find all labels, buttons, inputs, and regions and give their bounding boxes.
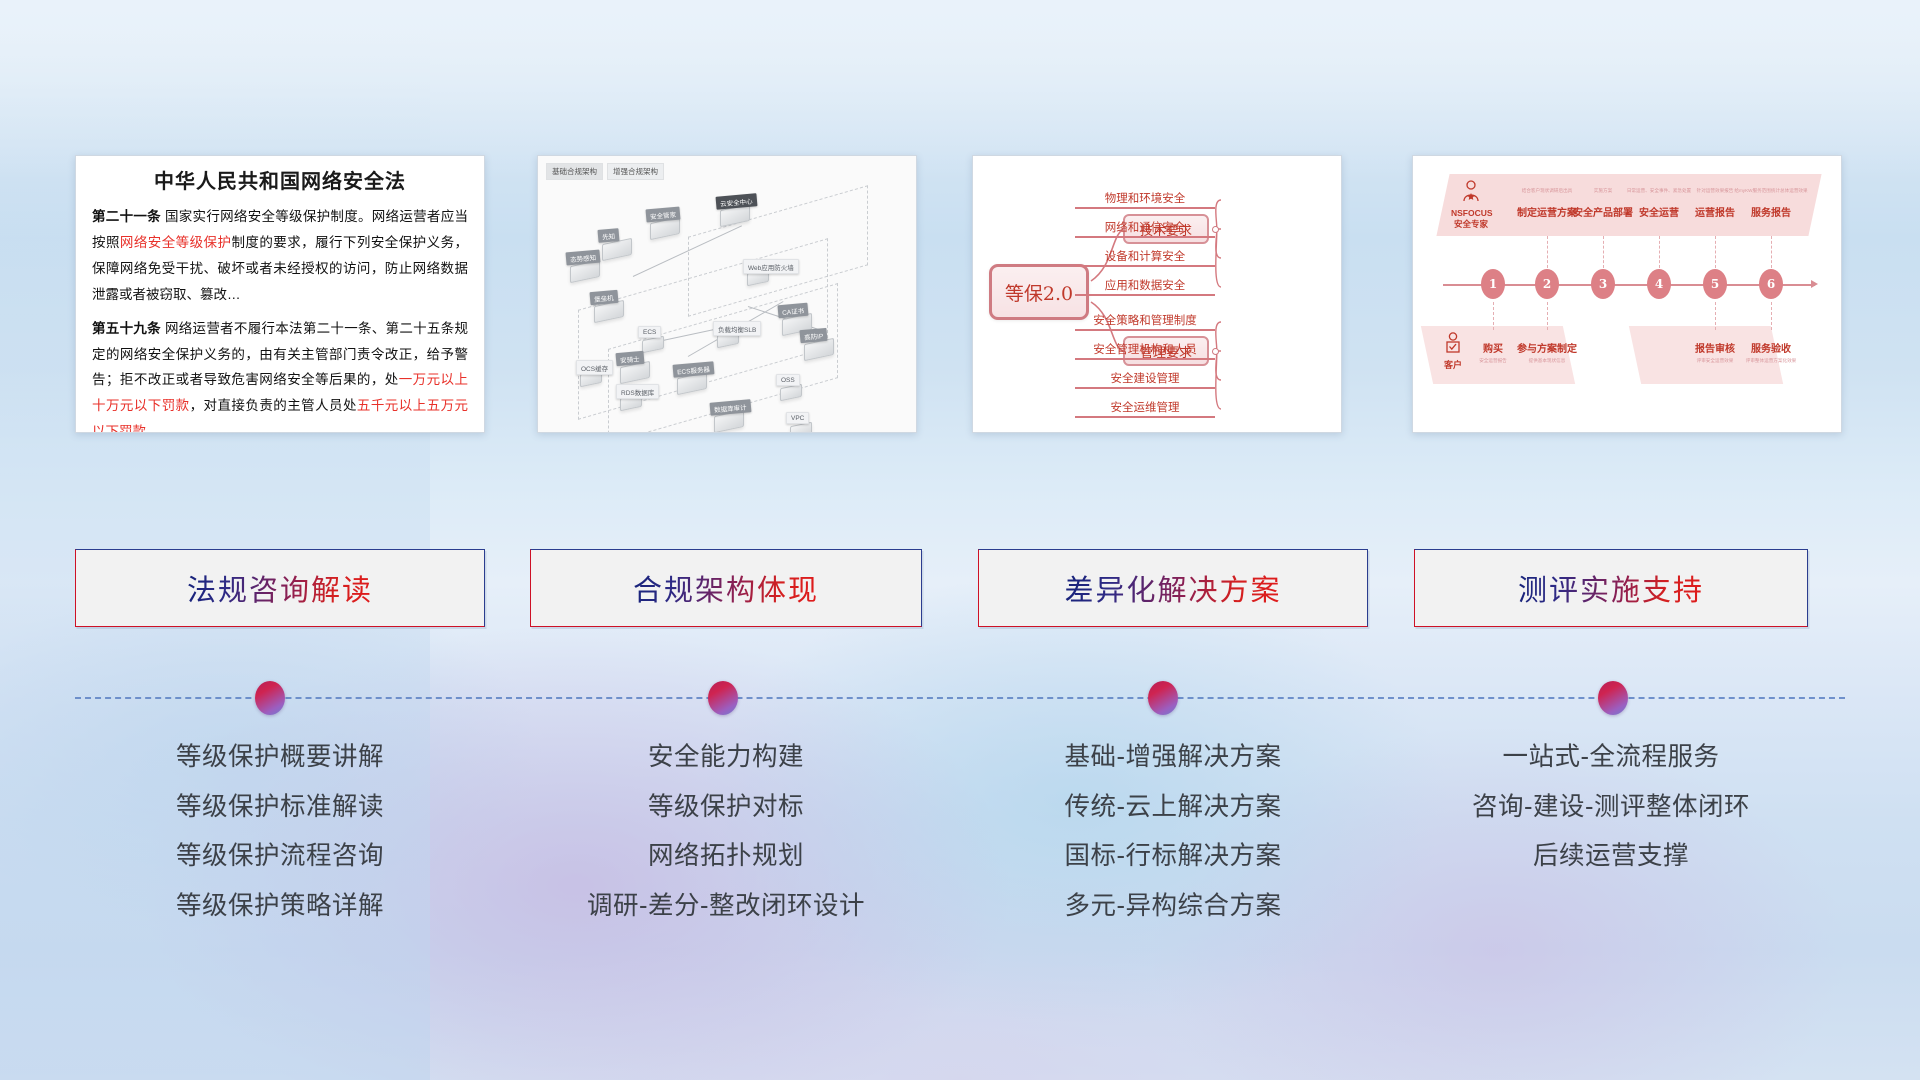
section-list-item: 基础-增强解决方案 (978, 745, 1368, 771)
section-list-item: 等级保护流程咨询 (75, 844, 485, 870)
section-list-item: 一站式-全流程服务 (1414, 745, 1808, 771)
section-list-row: 等级保护概要讲解等级保护标准解读等级保护流程咨询等级保护策略详解 安全能力构建等… (0, 0, 1920, 1080)
section-list-item: 咨询-建设-测评整体闭环 (1414, 795, 1808, 821)
section-list-item: 调研-差分-整改闭环设计 (530, 894, 922, 920)
section-list-1: 安全能力构建等级保护对标网络拓扑规划调研-差分-整改闭环设计 (530, 745, 922, 943)
section-list-item: 安全能力构建 (530, 745, 922, 771)
section-list-item: 网络拓扑规划 (530, 844, 922, 870)
section-list-item: 等级保护标准解读 (75, 795, 485, 821)
section-list-item: 多元-异构综合方案 (978, 894, 1368, 920)
section-list-item: 等级保护概要讲解 (75, 745, 485, 771)
section-list-3: 一站式-全流程服务咨询-建设-测评整体闭环后续运营支撑 (1414, 745, 1808, 894)
section-list-item: 等级保护对标 (530, 795, 922, 821)
section-list-item: 等级保护策略详解 (75, 894, 485, 920)
section-list-item: 后续运营支撑 (1414, 844, 1808, 870)
section-list-item: 国标-行标解决方案 (978, 844, 1368, 870)
section-list-0: 等级保护概要讲解等级保护标准解读等级保护流程咨询等级保护策略详解 (75, 745, 485, 943)
section-list-item: 传统-云上解决方案 (978, 795, 1368, 821)
section-list-2: 基础-增强解决方案传统-云上解决方案国标-行标解决方案多元-异构综合方案 (978, 745, 1368, 943)
